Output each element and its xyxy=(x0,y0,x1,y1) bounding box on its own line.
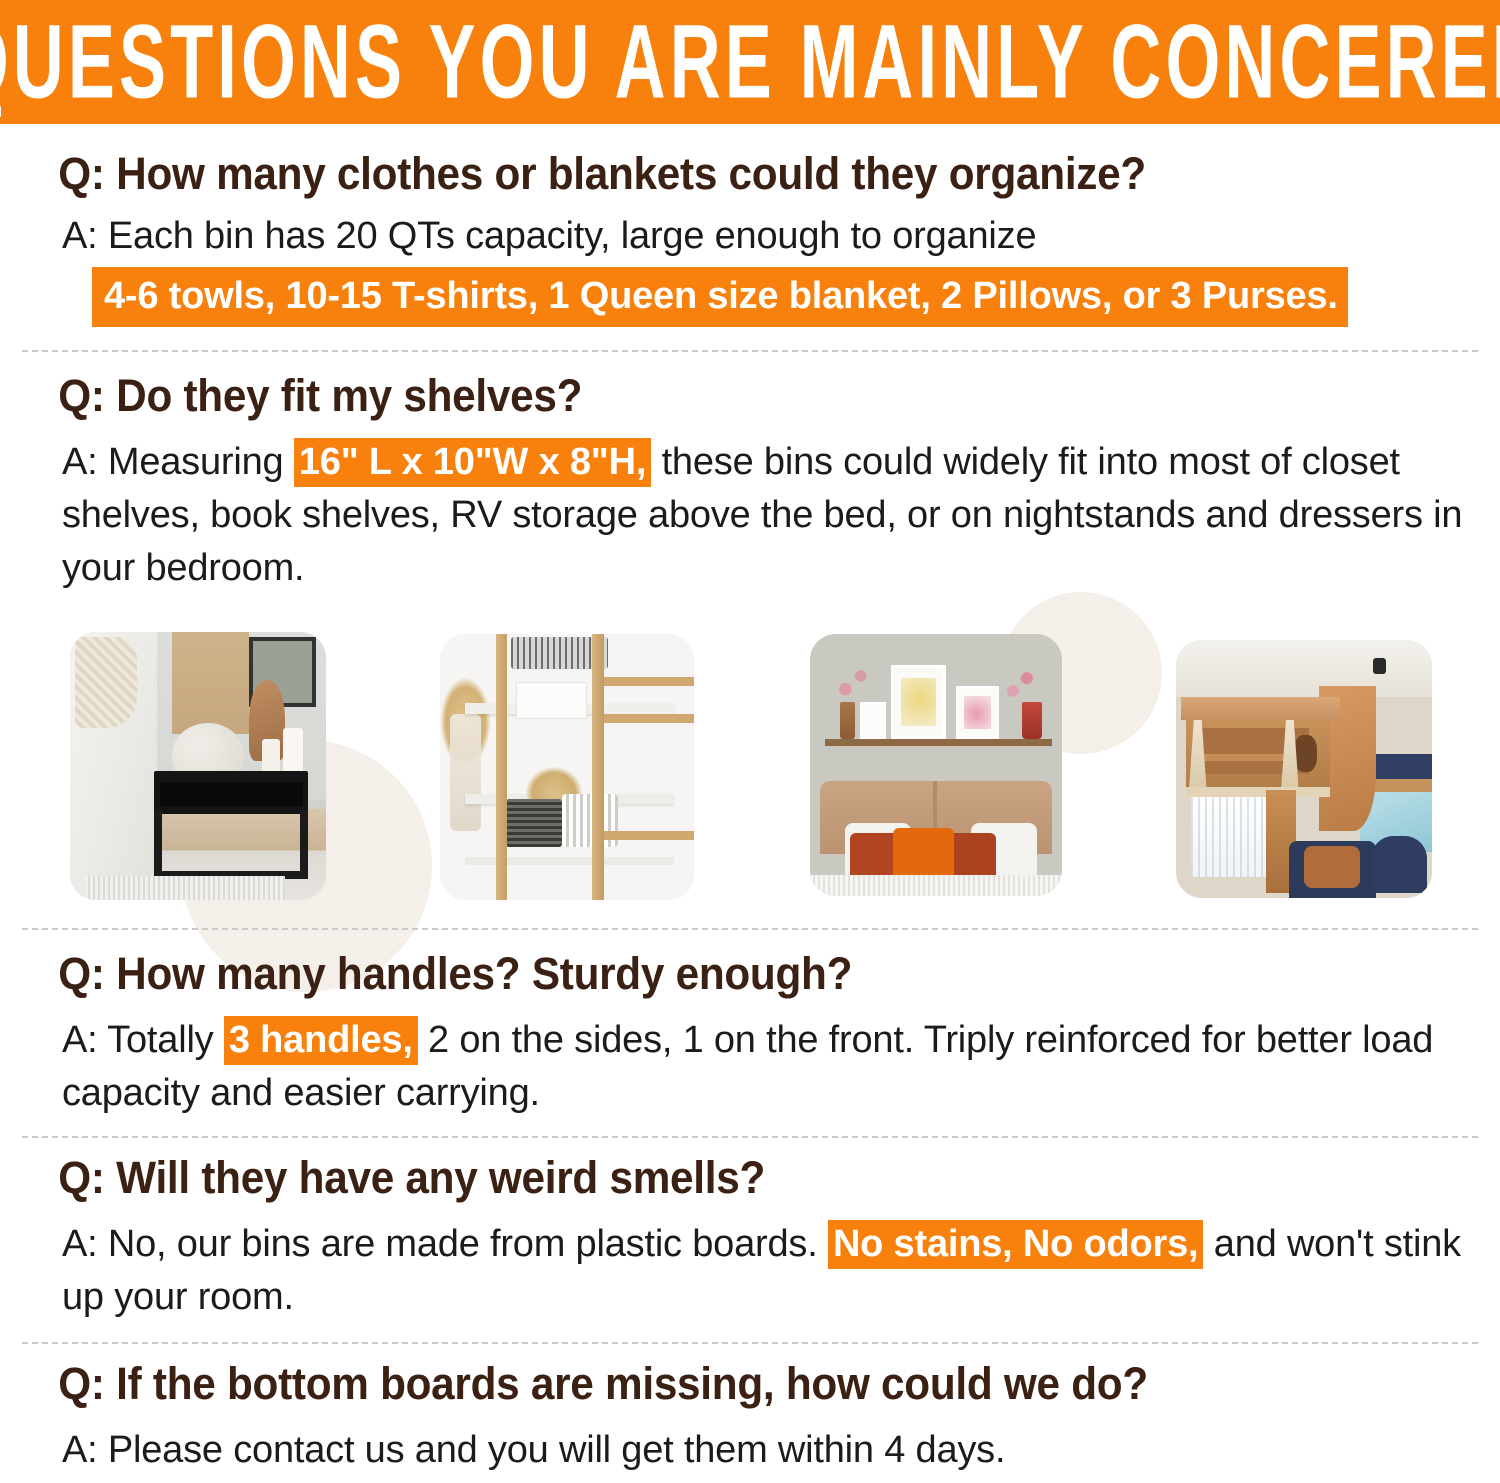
faq-answer-5: A: Please contact us and you will get th… xyxy=(0,1424,1500,1477)
faq-item-1: Q: How many clothes or blankets could th… xyxy=(0,148,1500,327)
faq-infographic-page: QUESTIONS YOU ARE MAINLY CONCERED Q: How… xyxy=(0,0,1500,1483)
faq-highlight-4: No stains, No odors, xyxy=(828,1220,1203,1269)
header-banner: QUESTIONS YOU ARE MAINLY CONCERED xyxy=(0,0,1500,124)
faq-answer-4: A: No, our bins are made from plastic bo… xyxy=(0,1218,1500,1324)
faq-item-5: Q: If the bottom boards are missing, how… xyxy=(0,1358,1500,1477)
faq-answer-3-pre: A: Totally xyxy=(62,1019,224,1061)
bed-wall-shelf-photo xyxy=(810,634,1062,896)
faq-item-3: Q: How many handles? Sturdy enough? A: T… xyxy=(0,948,1500,1120)
faq-highlight-bar-1: 4-6 towls, 10-15 T-shirts, 1 Queen size … xyxy=(92,267,1348,327)
faq-answer-1-line1: A: Each bin has 20 QTs capacity, large e… xyxy=(0,210,1500,263)
faq-question-1: Q: How many clothes or blankets could th… xyxy=(0,148,1410,200)
photo-gallery-row xyxy=(0,628,1500,904)
faq-highlight-2: 16" L x 10"W x 8"H, xyxy=(294,438,651,487)
faq-item-4: Q: Will they have any weird smells? A: N… xyxy=(0,1152,1500,1324)
rv-overhead-storage-photo xyxy=(1176,640,1432,898)
faq-question-3: Q: How many handles? Sturdy enough? xyxy=(0,948,1410,1000)
faq-answer-1-highlight-wrap: 4-6 towls, 10-15 T-shirts, 1 Queen size … xyxy=(0,267,1500,327)
divider-2 xyxy=(22,928,1478,930)
faq-question-2: Q: Do they fit my shelves? xyxy=(0,370,1410,422)
faq-highlight-3: 3 handles, xyxy=(224,1016,418,1065)
bamboo-shelf-photo xyxy=(440,634,694,900)
divider-4 xyxy=(22,1342,1478,1344)
page-title: QUESTIONS YOU ARE MAINLY CONCERED xyxy=(0,10,1500,115)
faq-item-2: Q: Do they fit my shelves? A: Measuring … xyxy=(0,370,1500,595)
faq-answer-4-pre: A: No, our bins are made from plastic bo… xyxy=(62,1223,828,1265)
faq-question-4: Q: Will they have any weird smells? xyxy=(0,1152,1410,1204)
faq-answer-3: A: Totally 3 handles, 2 on the sides, 1 … xyxy=(0,1014,1500,1120)
divider-1 xyxy=(22,350,1478,352)
faq-answer-2: A: Measuring 16" L x 10"W x 8"H, these b… xyxy=(0,436,1500,595)
faq-question-5: Q: If the bottom boards are missing, how… xyxy=(0,1358,1410,1410)
divider-3 xyxy=(22,1136,1478,1138)
bedroom-nightstand-photo xyxy=(70,632,326,900)
faq-answer-2-pre: A: Measuring xyxy=(62,441,294,483)
